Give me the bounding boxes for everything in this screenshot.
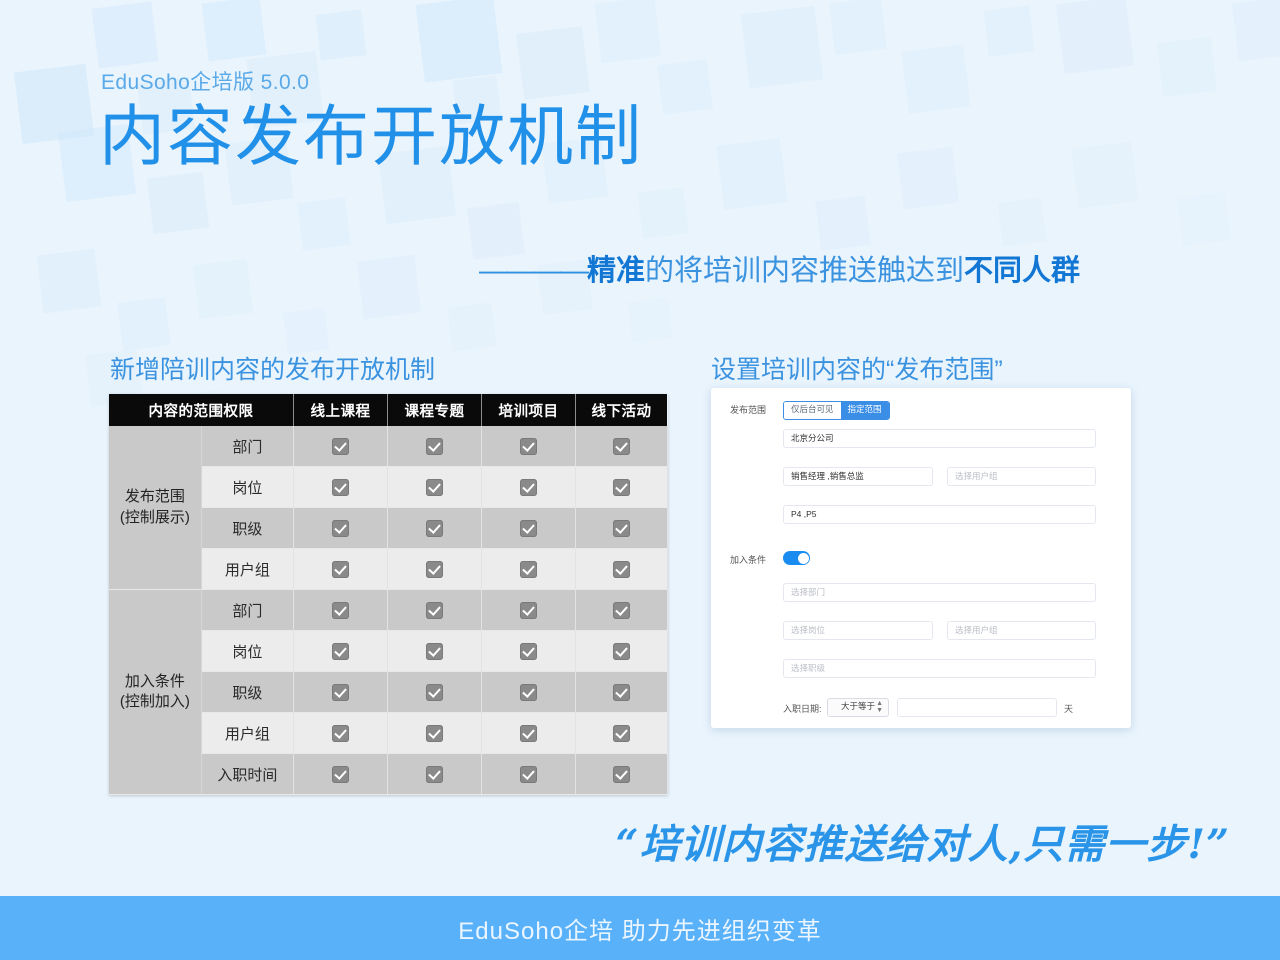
hire-date-operator-select[interactable]: 大于等于 ▲▼ (827, 698, 889, 717)
table-body: 发布范围(控制展示)部门岗位职级用户组加入条件(控制加入)部门岗位职级用户组入职… (109, 426, 667, 795)
group-label-line1: 加入条件 (125, 673, 185, 690)
checked-checkbox-icon (426, 725, 443, 742)
table-header-scope: 内容的范围权限 (109, 394, 294, 426)
hire-date-value-input[interactable] (897, 698, 1057, 717)
checked-checkbox-icon (332, 520, 349, 537)
checked-checkbox-icon (332, 438, 349, 455)
checked-checkbox-icon (520, 766, 537, 783)
table-cell-checkbox (388, 508, 482, 549)
slide-content: EduSoho企培版 5.0.0 内容发布开放机制 ————精准的将培训内容推送… (0, 0, 1280, 960)
checked-checkbox-icon (520, 520, 537, 537)
table-cell-checkbox (294, 713, 388, 754)
scope-option-specified-range[interactable]: 指定范围 (841, 402, 889, 419)
table-cell-checkbox (294, 549, 388, 590)
footer-bar: EduSoho企培 助力先进组织变革 (0, 896, 1280, 960)
table-cell-checkbox (294, 467, 388, 508)
table-cell-checkbox (388, 426, 482, 467)
table-row-label: 岗位 (201, 467, 293, 508)
table-row-label: 岗位 (201, 631, 293, 672)
checked-checkbox-icon (613, 520, 630, 537)
checked-checkbox-icon (613, 684, 630, 701)
table-cell-checkbox (576, 590, 668, 631)
table-cell-checkbox (482, 672, 576, 713)
table-group-label-join-condition: 加入条件(控制加入) (109, 590, 201, 795)
scope-user-group-input[interactable]: 选择用户组 (947, 467, 1096, 486)
table-group-label-publish-scope: 发布范围(控制展示) (109, 426, 201, 590)
checked-checkbox-icon (426, 561, 443, 578)
checked-checkbox-icon (332, 766, 349, 783)
version-label: EduSoho企培版 5.0.0 (101, 66, 309, 96)
scope-mode-segmented-control[interactable]: 仅后台可见 指定范围 (783, 401, 890, 420)
subtitle-bold-tail: 不同人群 (964, 255, 1080, 287)
table-header-online-course: 线上课程 (294, 394, 388, 426)
checked-checkbox-icon (332, 643, 349, 660)
checked-checkbox-icon (332, 684, 349, 701)
table-row: 发布范围(控制展示)部门 (109, 426, 667, 467)
checked-checkbox-icon (520, 643, 537, 660)
checked-checkbox-icon (613, 479, 630, 496)
quote-text: “培训内容推送给对人,只需一步!” (0, 812, 1230, 870)
hire-date-operator-value: 大于等于 (841, 701, 875, 711)
checked-checkbox-icon (426, 438, 443, 455)
checked-checkbox-icon (520, 479, 537, 496)
join-department-input[interactable]: 选择部门 (783, 583, 1096, 602)
table-cell-checkbox (294, 590, 388, 631)
checked-checkbox-icon (520, 725, 537, 742)
table-row-label: 入职时间 (201, 754, 293, 795)
table-cell-checkbox (482, 426, 576, 467)
table-cell-checkbox (388, 754, 482, 795)
table-cell-checkbox (576, 549, 668, 590)
checked-checkbox-icon (613, 602, 630, 619)
table-cell-checkbox (388, 467, 482, 508)
checked-checkbox-icon (520, 684, 537, 701)
hire-date-label: 入职日期: (783, 702, 822, 715)
table-cell-checkbox (576, 713, 668, 754)
table-cell-checkbox (294, 672, 388, 713)
join-condition-label: 加入条件 (730, 553, 766, 566)
table-cell-checkbox (294, 426, 388, 467)
left-section-heading: 新增陪训内容的发布开放机制 (110, 350, 435, 386)
table-cell-checkbox (482, 467, 576, 508)
table-header-course-topic: 课程专题 (388, 394, 482, 426)
table-cell-checkbox (576, 672, 668, 713)
group-label-line2: (控制加入) (120, 693, 190, 710)
table-cell-checkbox (482, 590, 576, 631)
checked-checkbox-icon (520, 438, 537, 455)
scope-position-input[interactable]: 销售经理 ,销售总监 (783, 467, 933, 486)
subtitle-dash: ———— (479, 255, 587, 287)
table-cell-checkbox (388, 672, 482, 713)
checked-checkbox-icon (332, 602, 349, 619)
group-label-line1: 发布范围 (125, 488, 185, 505)
checked-checkbox-icon (332, 479, 349, 496)
table-cell-checkbox (388, 590, 482, 631)
table-cell-checkbox (482, 508, 576, 549)
checked-checkbox-icon (426, 643, 443, 660)
checked-checkbox-icon (613, 438, 630, 455)
checked-checkbox-icon (613, 766, 630, 783)
scope-job-level-input[interactable]: P4 ,P5 (783, 505, 1096, 524)
table-cell-checkbox (576, 754, 668, 795)
table-cell-checkbox (576, 426, 668, 467)
table-cell-checkbox (388, 713, 482, 754)
table-row-label: 职级 (201, 672, 293, 713)
table-header-training-project: 培训项目 (482, 394, 576, 426)
table-cell-checkbox (388, 549, 482, 590)
subtitle-middle: 的将培训内容推送触达到 (645, 255, 964, 287)
permission-matrix-table: 内容的范围权限 线上课程 课程专题 培训项目 线下活动 发布范围(控制展示)部门… (109, 394, 668, 795)
table-header-row: 内容的范围权限 线上课程 课程专题 培训项目 线下活动 (109, 394, 667, 426)
scope-option-backend-only[interactable]: 仅后台可见 (784, 402, 841, 419)
table-row-label: 职级 (201, 508, 293, 549)
table-row: 加入条件(控制加入)部门 (109, 590, 667, 631)
group-label-line2: (控制展示) (120, 509, 190, 526)
stepper-arrows-icon: ▲▼ (876, 700, 883, 714)
checked-checkbox-icon (520, 561, 537, 578)
table-row-label: 用户组 (201, 549, 293, 590)
right-section-heading: 设置培训内容的“发布范围” (711, 350, 1003, 386)
scope-department-input[interactable]: 北京分公司 (783, 429, 1096, 448)
join-condition-toggle[interactable] (783, 551, 810, 565)
publish-scope-form-panel: 发布范围 仅后台可见 指定范围 北京分公司 销售经理 ,销售总监 选择用户组 P… (711, 388, 1131, 728)
table-cell-checkbox (294, 631, 388, 672)
table-cell-checkbox (294, 754, 388, 795)
checked-checkbox-icon (520, 602, 537, 619)
table-row-label: 部门 (201, 590, 293, 631)
checked-checkbox-icon (426, 684, 443, 701)
join-position-input[interactable]: 选择岗位 (783, 621, 933, 640)
table-cell-checkbox (576, 631, 668, 672)
checked-checkbox-icon (426, 520, 443, 537)
table-cell-checkbox (576, 508, 668, 549)
subtitle-bold-lead: 精准 (587, 255, 645, 287)
scope-label: 发布范围 (730, 403, 766, 416)
checked-checkbox-icon (332, 561, 349, 578)
table-cell-checkbox (482, 713, 576, 754)
footer-text: EduSoho企培 助力先进组织变革 (458, 911, 821, 946)
table-cell-checkbox (388, 631, 482, 672)
checked-checkbox-icon (613, 643, 630, 660)
checked-checkbox-icon (426, 766, 443, 783)
join-user-group-input[interactable]: 选择用户组 (947, 621, 1096, 640)
checked-checkbox-icon (426, 602, 443, 619)
table-cell-checkbox (294, 508, 388, 549)
table-cell-checkbox (482, 549, 576, 590)
hire-date-unit: 天 (1064, 702, 1073, 715)
checked-checkbox-icon (332, 725, 349, 742)
table-cell-checkbox (576, 467, 668, 508)
checked-checkbox-icon (426, 479, 443, 496)
table-cell-checkbox (482, 754, 576, 795)
table-header-offline-activity: 线下活动 (576, 394, 668, 426)
checked-checkbox-icon (613, 725, 630, 742)
page-title: 内容发布开放机制 (99, 103, 643, 169)
checked-checkbox-icon (613, 561, 630, 578)
table-head: 内容的范围权限 线上课程 课程专题 培训项目 线下活动 (109, 394, 667, 426)
subtitle: ————精准的将培训内容推送触达到不同人群 (0, 247, 1080, 289)
table-cell-checkbox (482, 631, 576, 672)
table-row-label: 部门 (201, 426, 293, 467)
join-job-level-input[interactable]: 选择职级 (783, 659, 1096, 678)
table-row-label: 用户组 (201, 713, 293, 754)
